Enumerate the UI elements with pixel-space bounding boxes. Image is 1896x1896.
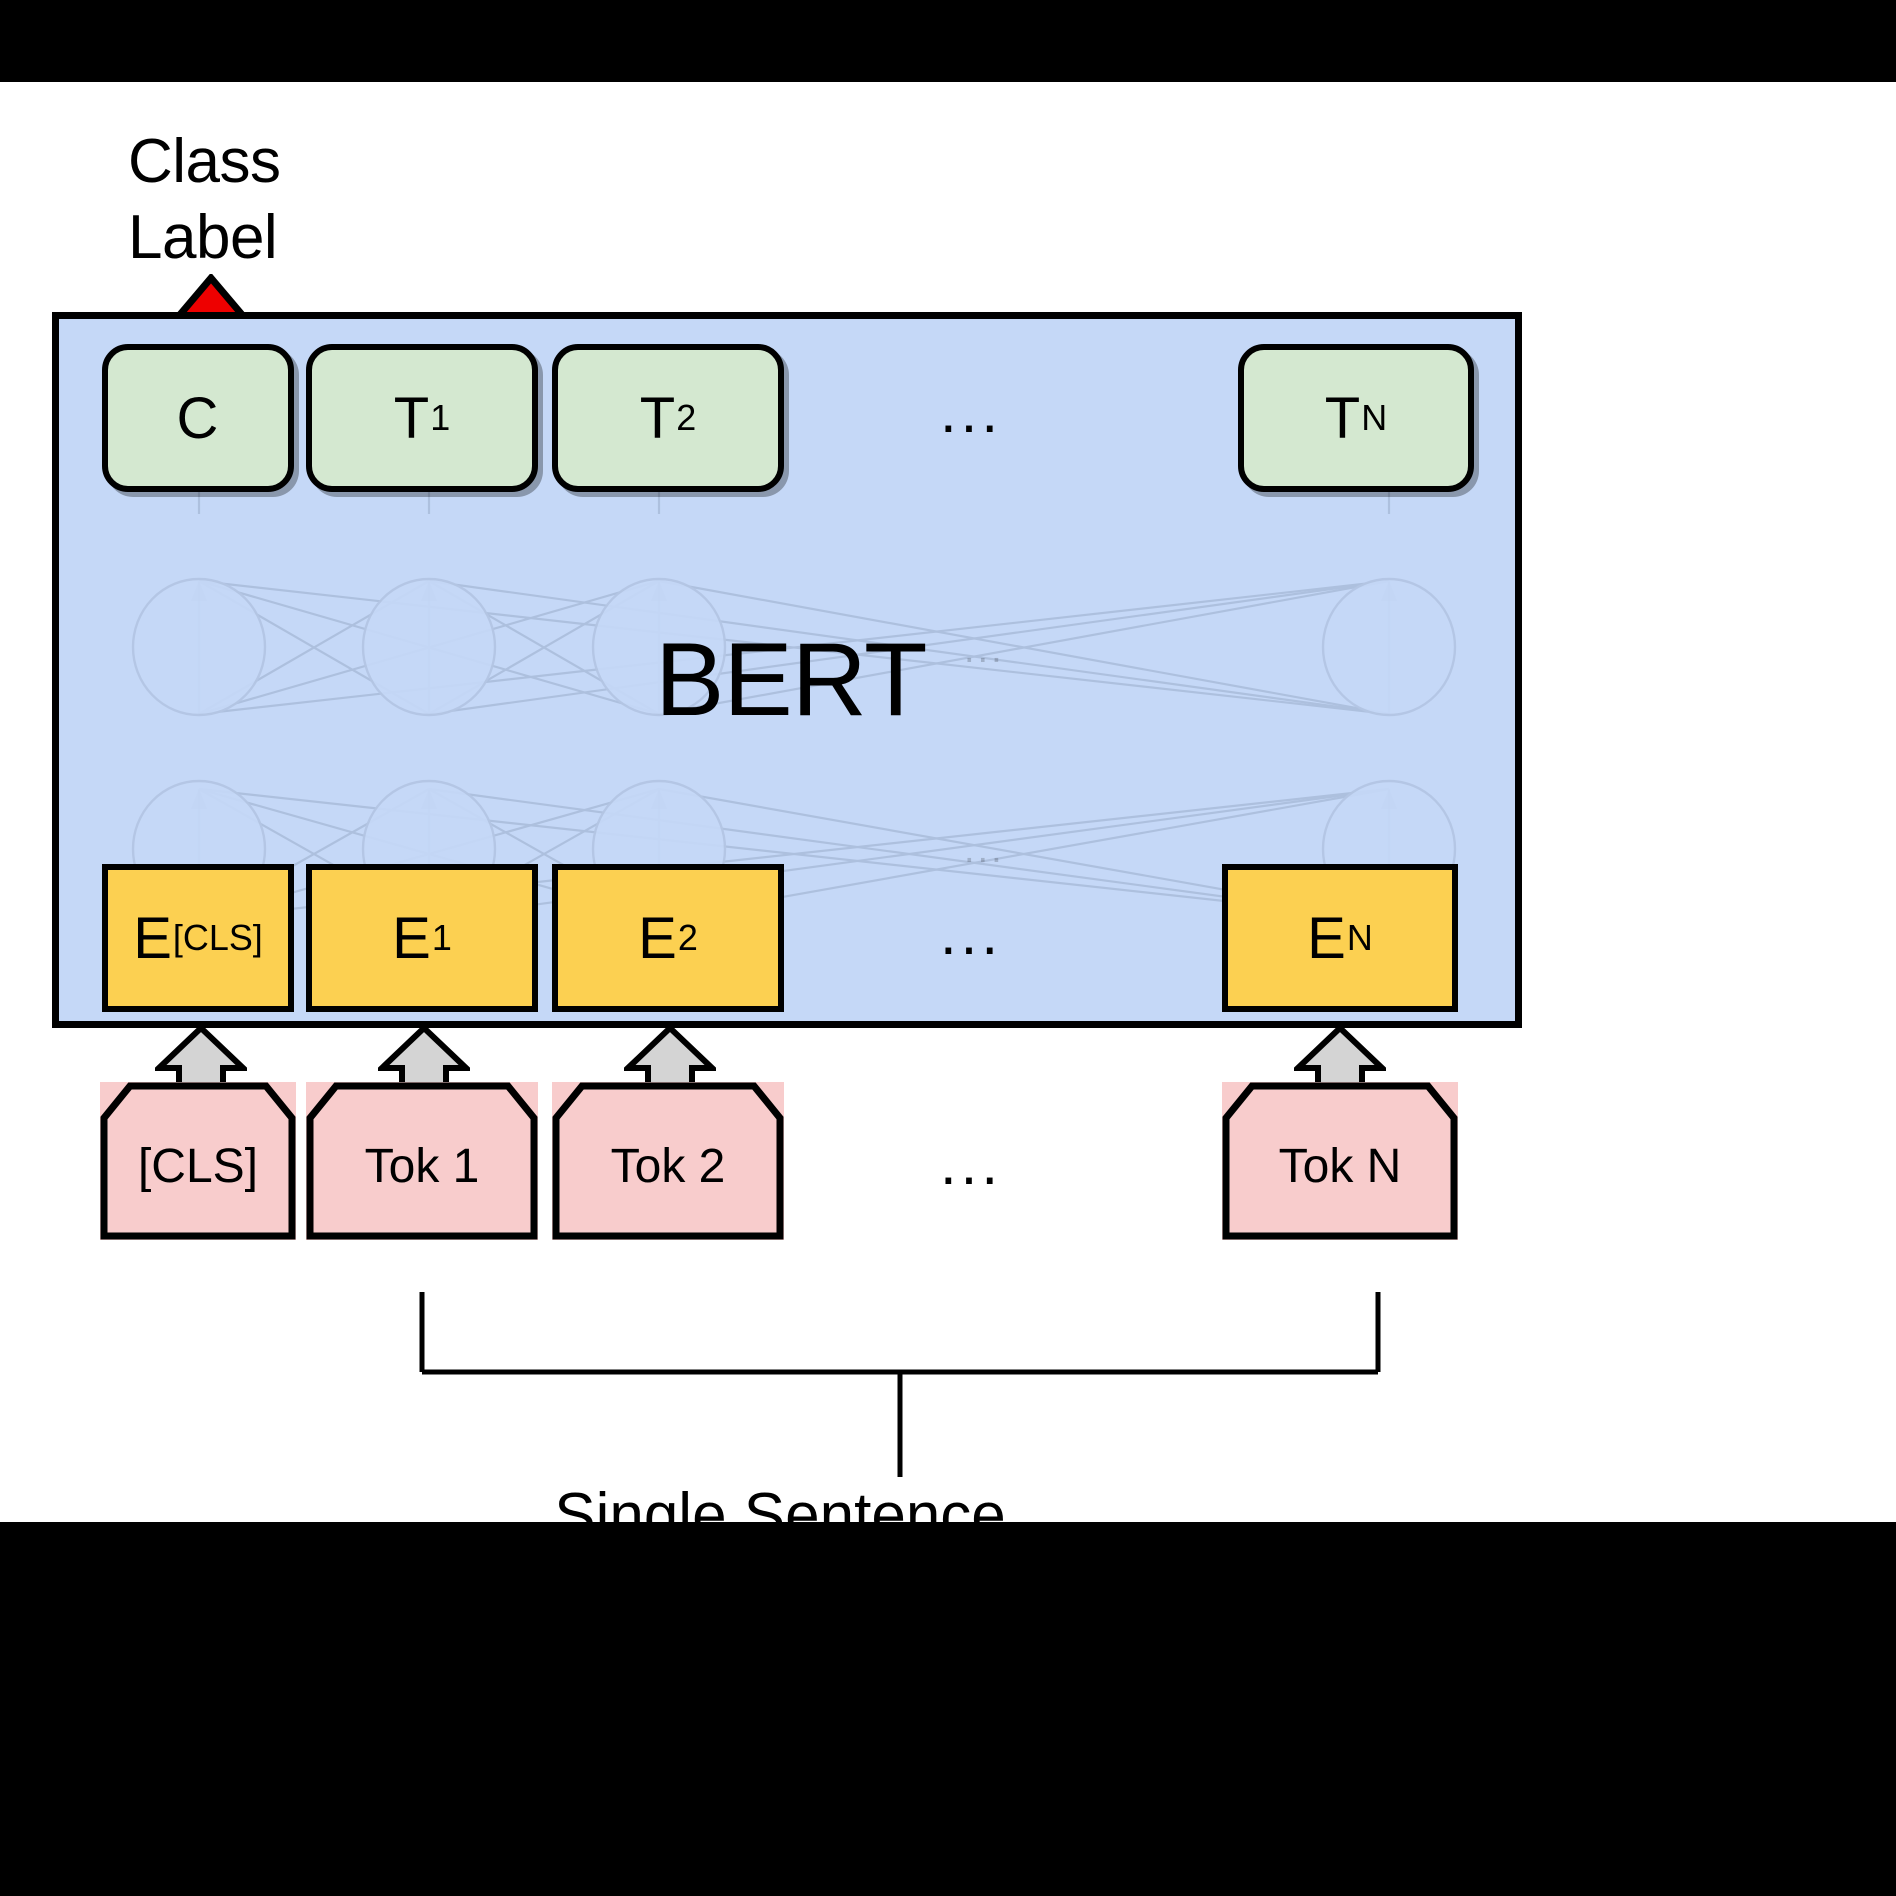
output-box-t1[interactable]: T1 bbox=[306, 344, 538, 492]
embedding-box-cls[interactable]: E[CLS] bbox=[102, 864, 294, 1012]
bert-title: BERT bbox=[655, 621, 927, 740]
output-row-ellipsis: ... bbox=[940, 382, 1002, 442]
token-label-1: Tok 1 bbox=[365, 1129, 480, 1194]
token-label-cls: [CLS] bbox=[138, 1129, 258, 1194]
network-ellipsis-lower: ... bbox=[964, 831, 1005, 869]
output-cls-base: C bbox=[177, 385, 219, 452]
embedding-cls-base: E bbox=[133, 905, 172, 972]
embedding-n-sub: N bbox=[1347, 917, 1373, 959]
token-label-2: Tok 2 bbox=[611, 1129, 726, 1194]
token-box-n[interactable]: Tok N bbox=[1222, 1082, 1458, 1240]
output-t2-base: T bbox=[640, 385, 675, 452]
single-sentence-label: Single Sentence bbox=[0, 1480, 1560, 1551]
embedding-2-sub: 2 bbox=[678, 917, 698, 959]
embedding-box-n[interactable]: EN bbox=[1222, 864, 1458, 1012]
output-t2-sub: 2 bbox=[676, 397, 696, 439]
token-row-ellipsis: ... bbox=[940, 1134, 1002, 1194]
token-box-1[interactable]: Tok 1 bbox=[306, 1082, 538, 1240]
output-t1-sub: 1 bbox=[430, 397, 450, 439]
embedding-n-base: E bbox=[1307, 905, 1346, 972]
output-t1-base: T bbox=[394, 385, 429, 452]
embedding-1-base: E bbox=[392, 905, 431, 972]
embedding-2-base: E bbox=[638, 905, 677, 972]
output-box-t2[interactable]: T2 bbox=[552, 344, 784, 492]
embedding-cls-sub: [CLS] bbox=[173, 917, 263, 959]
diagram-canvas: Class Label bbox=[0, 0, 1896, 1896]
embedding-box-1[interactable]: E1 bbox=[306, 864, 538, 1012]
output-box-tn[interactable]: TN bbox=[1238, 344, 1474, 492]
token-box-cls[interactable]: [CLS] bbox=[100, 1082, 296, 1240]
embedding-row-ellipsis: ... bbox=[940, 904, 1002, 964]
output-tn-sub: N bbox=[1361, 397, 1387, 439]
embedding-1-sub: 1 bbox=[432, 917, 452, 959]
output-tn-base: T bbox=[1325, 385, 1360, 452]
embedding-box-2[interactable]: E2 bbox=[552, 864, 784, 1012]
token-box-2[interactable]: Tok 2 bbox=[552, 1082, 784, 1240]
token-label-n: Tok N bbox=[1279, 1129, 1402, 1194]
output-box-cls[interactable]: C bbox=[102, 344, 294, 492]
sentence-bracket bbox=[380, 1292, 1420, 1482]
page-background: Class Label bbox=[0, 82, 1896, 1522]
network-ellipsis-upper: ... bbox=[964, 631, 1005, 669]
class-label-text: Class Label bbox=[128, 124, 281, 275]
